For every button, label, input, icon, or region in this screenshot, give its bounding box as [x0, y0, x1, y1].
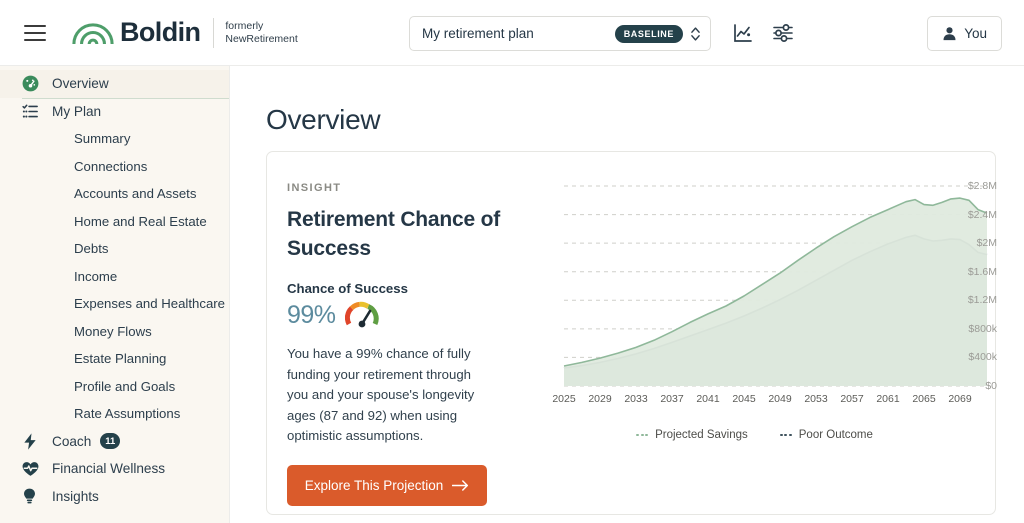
user-menu-button[interactable]: You [927, 16, 1002, 51]
page-title: Overview [266, 104, 1024, 136]
user-menu-label: You [964, 26, 987, 41]
brand-name: Boldin [120, 17, 200, 48]
sidebar-item-label: Estate Planning [74, 351, 166, 366]
sidebar-item-label: Insights [52, 489, 99, 504]
sidebar-item-money-flows[interactable]: Money Flows [0, 318, 229, 346]
x-axis-tick: 2061 [876, 393, 899, 405]
x-axis-tick: 2057 [840, 393, 863, 405]
x-axis-tick: 2037 [660, 393, 683, 405]
sliders-icon[interactable] [772, 22, 794, 44]
y-axis-tick: $400k [953, 351, 997, 363]
bolt-icon [22, 433, 44, 450]
y-axis-tick: $800k [953, 323, 997, 335]
insight-body-text: You have a 99% chance of fully funding y… [287, 344, 493, 447]
brand-former-text: formerly NewRetirement [225, 20, 297, 46]
gauge-meter-icon [345, 300, 379, 330]
insight-title: Retirement Chance of Success [287, 205, 512, 263]
insight-card-right: Projected SavingsPoor Outcome $0$400k$80… [512, 152, 995, 514]
sidebar-item-label: Rate Assumptions [74, 406, 180, 421]
sidebar-item-debts[interactable]: Debts [0, 235, 229, 263]
y-axis-tick: $2.8M [953, 180, 997, 192]
chart-line-icon[interactable] [732, 22, 754, 44]
chart-legend: Projected SavingsPoor Outcome [512, 429, 997, 441]
plan-selector[interactable]: My retirement plan BASELINE [409, 16, 711, 51]
sidebar-item-connections[interactable]: Connections [0, 153, 229, 181]
y-axis-tick: $2M [953, 237, 997, 249]
person-icon [942, 26, 957, 41]
sidebar-item-financial-wellness[interactable]: Financial Wellness [0, 455, 229, 483]
hamburger-icon[interactable] [24, 25, 46, 41]
legend-item[interactable]: Poor Outcome [780, 429, 873, 441]
brand-divider [213, 18, 214, 48]
y-axis-tick: $2.4M [953, 209, 997, 221]
sidebar-item-label: Overview [52, 76, 109, 91]
sidebar-item-label: Money Flows [74, 324, 152, 339]
arrow-right-icon [452, 480, 469, 491]
sidebar-item-label: Coach [52, 434, 91, 449]
sidebar-item-label: Accounts and Assets [74, 186, 196, 201]
sidebar-item-label: Connections [74, 159, 147, 174]
chance-of-success-value: 99% [287, 301, 336, 330]
sidebar-item-label: Debts [74, 241, 108, 256]
x-axis-tick: 2041 [696, 393, 719, 405]
x-axis-tick: 2025 [552, 393, 575, 405]
sidebar-item-label: Income [74, 269, 117, 284]
chevron-updown-icon[interactable] [690, 25, 701, 43]
sidebar-item-home-and-real-estate[interactable]: Home and Real Estate [0, 208, 229, 236]
sidebar-item-label: Expenses and Healthcare [74, 296, 225, 311]
brand-logo-group[interactable]: Boldin formerly NewRetirement [72, 17, 298, 48]
insight-kicker: INSIGHT [287, 182, 512, 194]
heart-pulse-icon [22, 461, 44, 477]
x-axis-tick: 2065 [912, 393, 935, 405]
boldin-arc-icon [72, 20, 114, 46]
sidebar-item-insights[interactable]: Insights [0, 483, 229, 511]
sidebar-item-label: Profile and Goals [74, 379, 175, 394]
x-axis-tick: 2069 [948, 393, 971, 405]
legend-swatch-icon [636, 434, 648, 437]
x-axis-tick: 2033 [624, 393, 647, 405]
sidebar-item-accounts-and-assets[interactable]: Accounts and Assets [0, 180, 229, 208]
main-content: Overview INSIGHT Retirement Chance of Su… [230, 66, 1024, 523]
cta-label: Explore This Projection [305, 478, 444, 493]
plan-baseline-badge: BASELINE [615, 25, 683, 43]
sidebar-item-label: Summary [74, 131, 130, 146]
sidebar-item-income[interactable]: Income [0, 263, 229, 291]
gauge-icon [22, 75, 44, 92]
y-axis-tick: $1.6M [953, 266, 997, 278]
sidebar-item-label: Financial Wellness [52, 461, 165, 476]
insight-card: INSIGHT Retirement Chance of Success Cha… [266, 151, 996, 515]
sidebar-item-profile-and-goals[interactable]: Profile and Goals [0, 373, 229, 401]
sidebar-item-expenses-and-healthcare[interactable]: Expenses and Healthcare [0, 290, 229, 318]
y-axis-tick: $1.2M [953, 294, 997, 306]
sidebar-item-badge: 11 [100, 433, 120, 449]
sidebar-item-estate-planning[interactable]: Estate Planning [0, 345, 229, 373]
plan-name: My retirement plan [422, 26, 615, 41]
x-axis-tick: 2045 [732, 393, 755, 405]
sidebar-item-label: My Plan [52, 104, 101, 119]
sidebar-item-my-plan[interactable]: My Plan [0, 98, 229, 126]
checklist-icon [22, 103, 44, 120]
sidebar-item-label: Home and Real Estate [74, 214, 207, 229]
legend-label: Projected Savings [655, 429, 748, 441]
sidebar-item-overview[interactable]: Overview [0, 70, 229, 98]
insight-card-left: INSIGHT Retirement Chance of Success Cha… [267, 152, 512, 514]
app-root: Boldin formerly NewRetirement My retirem… [0, 0, 1024, 523]
x-axis-tick: 2053 [804, 393, 827, 405]
x-axis-tick: 2029 [588, 393, 611, 405]
y-axis-tick: $0 [953, 380, 997, 392]
sidebar: OverviewMy PlanSummaryConnectionsAccount… [0, 66, 230, 523]
lightbulb-icon [22, 488, 44, 505]
chance-of-success-row: 99% [287, 300, 512, 330]
legend-swatch-icon [780, 434, 792, 437]
chart-canvas [512, 176, 997, 416]
chance-of-success-label: Chance of Success [287, 281, 512, 296]
projection-chart[interactable]: Projected SavingsPoor Outcome $0$400k$80… [512, 176, 997, 461]
x-axis-tick: 2049 [768, 393, 791, 405]
top-bar: Boldin formerly NewRetirement My retirem… [0, 0, 1024, 66]
sidebar-item-summary[interactable]: Summary [0, 125, 229, 153]
explore-this-projection-button[interactable]: Explore This Projection [287, 465, 487, 506]
sidebar-item-coach[interactable]: Coach11 [0, 428, 229, 456]
legend-item[interactable]: Projected Savings [636, 429, 748, 441]
legend-label: Poor Outcome [799, 429, 873, 441]
sidebar-item-rate-assumptions[interactable]: Rate Assumptions [0, 400, 229, 428]
